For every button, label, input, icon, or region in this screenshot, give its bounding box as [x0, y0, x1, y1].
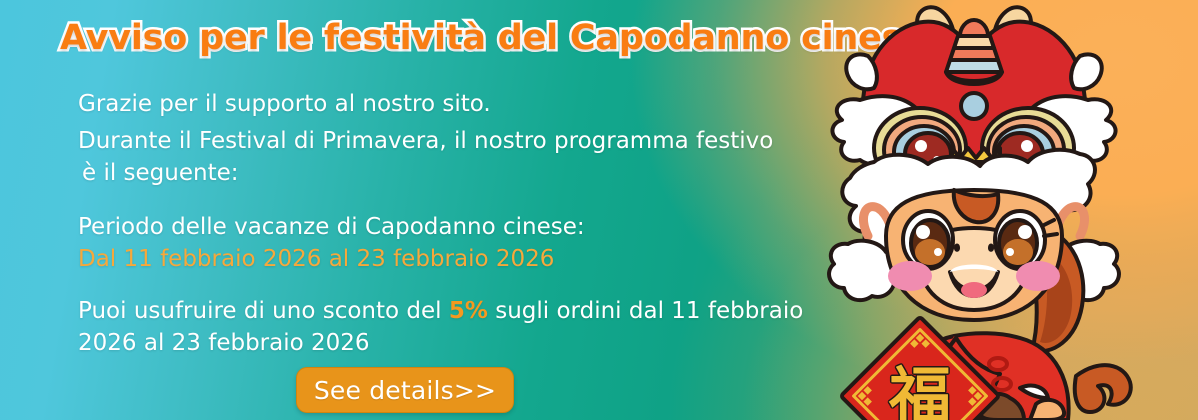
horse-eye-left [903, 211, 953, 269]
horse-cheek-right [1016, 261, 1060, 291]
holiday-period-label: Periodo delle vacanze di Capodanno cines… [78, 211, 838, 243]
spacer [78, 189, 838, 211]
horse-eye-right [995, 211, 1045, 269]
discount-line: Puoi usufruire di uno sconto del 5% sugl… [78, 295, 808, 359]
mascot-illustration: 福 [824, 0, 1198, 420]
horse-tail [1075, 365, 1131, 412]
page-title: Avviso per le festività del Capodanno ci… [60, 16, 840, 60]
see-details-button[interactable]: See details>> [296, 367, 514, 413]
chinese-new-year-notice-banner: Avviso per le festività del Capodanno ci… [0, 0, 1198, 420]
schedule-line-1: Durante il Festival di Primavera, il nos… [78, 125, 838, 157]
banner-body: Grazie per il supporto al nostro sito. D… [78, 88, 838, 359]
lion-forehead-dot-icon [961, 93, 987, 119]
horse-nostril-left [954, 244, 960, 252]
see-details-button-label: See details>> [314, 376, 496, 405]
holiday-period-dates: Dal 11 febbraio 2026 al 23 febbraio 2026 [78, 243, 838, 275]
fu-placard-character: 福 [888, 360, 951, 420]
lion-ear-right-icon [1071, 54, 1102, 89]
discount-percentage: 5% [449, 298, 488, 324]
horse-nostril-right [988, 244, 994, 252]
banner-text-content: Avviso per le festività del Capodanno ci… [0, 0, 850, 420]
thanks-line: Grazie per il supporto al nostro sito. [78, 88, 838, 120]
lion-ear-left-icon [846, 54, 877, 89]
spacer [78, 275, 838, 295]
schedule-line-2: è il seguente: [78, 157, 838, 189]
horse-tongue [961, 282, 987, 298]
horse-leg-right [1030, 400, 1064, 420]
horse-cheek-left [888, 261, 932, 291]
discount-text-before: Puoi usufruire di uno sconto del [78, 298, 449, 324]
